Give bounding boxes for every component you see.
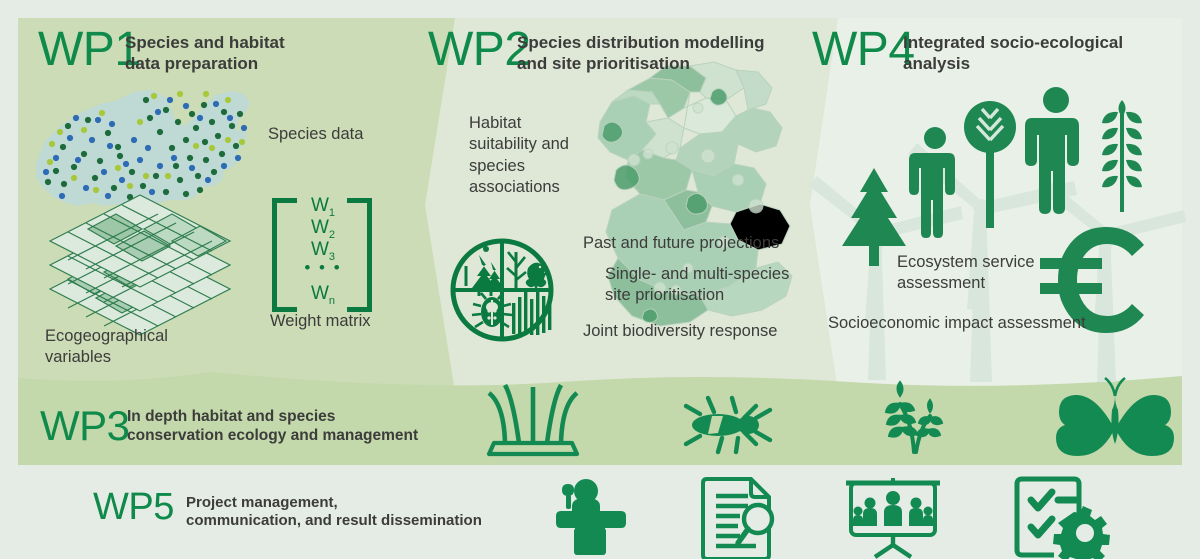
wp5-code: WP5 [93,488,174,526]
socioeconomic-impact-label: Socioeconomic impact assessment [828,313,1086,334]
presentation-board-icon [846,478,940,557]
ecosystem-service-label: Ecosystem service assessment [897,252,1077,295]
infographic-canvas: WP1 Species and habitat data preparation… [0,0,1200,559]
speaker-podium-icon [556,479,626,555]
wp2-title: Species distribution modelling and site … [517,33,764,74]
wp4-code: WP4 [812,26,915,74]
past-future-projections-label: Past and future projections [583,233,779,254]
gear-icon [1053,506,1110,559]
joint-biodiversity-label: Joint biodiversity response [583,321,777,342]
weight-ellipsis: • • • [294,262,352,284]
document-search-icon [703,479,772,559]
weight-term-n: Wn [294,284,352,306]
species-data-label: Species data [268,124,363,145]
ecogeographical-variables-label: Ecogeographical variables [45,326,168,369]
weight-term-1: W1 [294,196,352,218]
checklist-gear-icon [1017,479,1110,559]
weight-term-2: W2 [294,218,352,240]
wp5-title: Project management, communication, and r… [186,494,482,531]
site-prioritisation-label: Single- and multi-species site prioritis… [605,264,805,307]
wp4-title: Integrated socio-ecological analysis [903,33,1123,74]
weight-matrix-values: W1 W2 W3 • • • Wn [294,196,352,306]
weight-matrix-bracket: W1 W2 W3 • • • Wn [272,198,372,308]
wp3-title: In depth habitat and species conservatio… [127,408,418,446]
habitat-suitability-label: Habitat suitability and species associat… [469,113,589,199]
wp2-code: WP2 [428,26,531,74]
wp3-code: WP3 [40,405,130,447]
wp1-title: Species and habitat data preparation [125,33,285,74]
weight-matrix-label: Weight matrix [270,311,371,332]
